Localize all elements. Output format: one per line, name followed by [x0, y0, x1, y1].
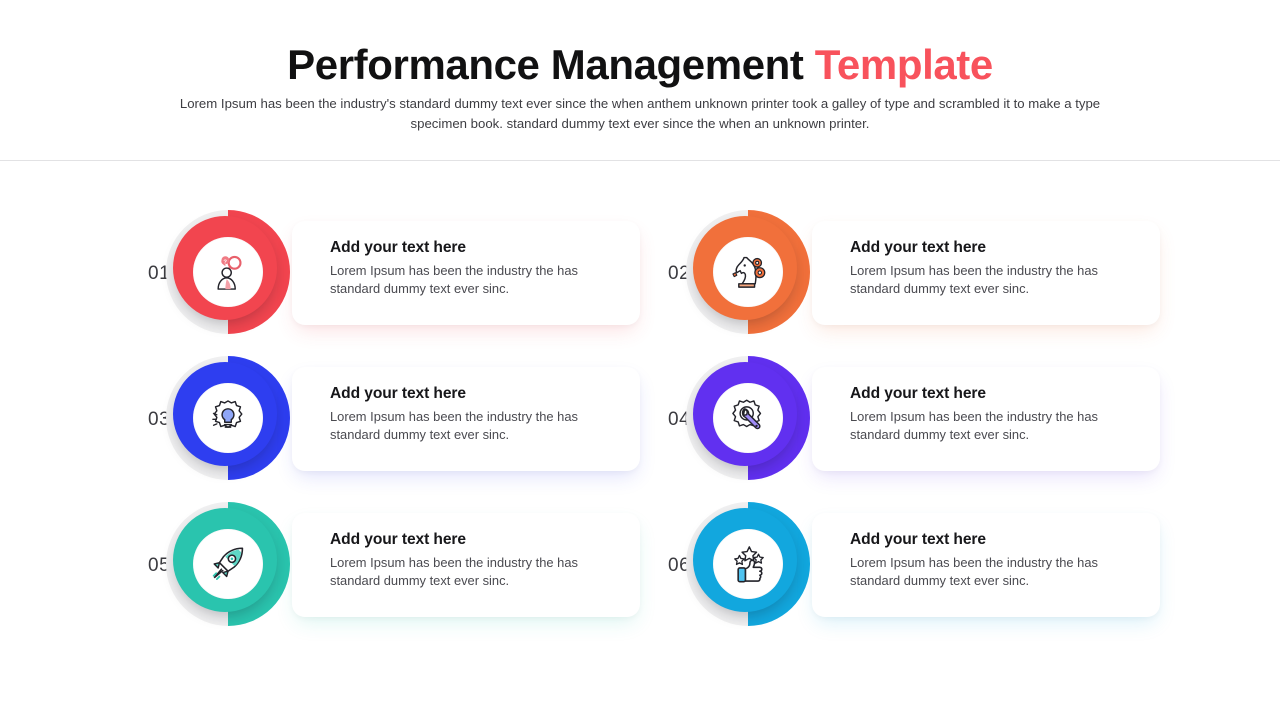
item-heading: Add your text here — [330, 385, 618, 403]
item-body: Lorem Ipsum has been the industry the ha… — [330, 554, 618, 591]
item-body: Lorem Ipsum has been the industry the ha… — [330, 408, 618, 445]
item-heading: Add your text here — [850, 531, 1138, 549]
icon-disc — [193, 529, 263, 599]
item-icon-badge — [686, 356, 810, 480]
list-item[interactable]: 03 Add your text here — [140, 356, 640, 502]
icon-disc — [193, 383, 263, 453]
item-card[interactable]: Add your text here Lorem Ipsum has been … — [292, 513, 640, 617]
item-card[interactable]: Add your text here Lorem Ipsum has been … — [292, 221, 640, 325]
item-body: Lorem Ipsum has been the industry the ha… — [850, 408, 1138, 445]
person-magnifier-question-icon: ? — [207, 251, 249, 293]
list-item[interactable]: 04 Add your text here Lorem Ipsum has be… — [660, 356, 1160, 502]
icon-disc — [713, 529, 783, 599]
item-heading: Add your text here — [850, 385, 1138, 403]
item-card[interactable]: Add your text here Lorem Ipsum has been … — [812, 367, 1160, 471]
page-subtitle: Lorem Ipsum has been the industry's stan… — [150, 94, 1130, 135]
item-heading: Add your text here — [850, 239, 1138, 257]
items-grid: 01 ? Add your text here — [0, 196, 1280, 666]
icon-disc: ? — [193, 237, 263, 307]
list-item[interactable]: 01 ? Add your text here — [140, 210, 640, 356]
slide-header: Performance Management Template Lorem Ip… — [0, 0, 1280, 160]
icon-disc — [713, 237, 783, 307]
svg-text:?: ? — [223, 259, 227, 265]
item-body: Lorem Ipsum has been the industry the ha… — [850, 554, 1138, 591]
rocket-launch-icon — [207, 543, 249, 585]
item-icon-badge: ? — [166, 210, 290, 334]
chess-knight-gears-icon — [727, 251, 769, 293]
item-icon-badge — [166, 356, 290, 480]
slide-canvas: Performance Management Template Lorem Ip… — [0, 0, 1280, 720]
item-card[interactable]: Add your text here Lorem Ipsum has been … — [292, 367, 640, 471]
thumbs-up-stars-rating-icon — [727, 543, 769, 585]
icon-disc — [713, 383, 783, 453]
page-title: Performance Management Template — [0, 42, 1280, 88]
lightbulb-gear-idea-icon — [207, 397, 249, 439]
list-item[interactable]: 06 Add your text here Lorem Ipsum has be — [660, 502, 1160, 648]
item-body: Lorem Ipsum has been the industry the ha… — [330, 262, 618, 299]
item-heading: Add your text here — [330, 531, 618, 549]
item-icon-badge — [686, 502, 810, 626]
list-item[interactable]: 02 Add yo — [660, 210, 1160, 356]
page-title-main: Performance Management — [287, 41, 815, 88]
item-icon-badge — [686, 210, 810, 334]
item-icon-badge — [166, 502, 290, 626]
item-card[interactable]: Add your text here Lorem Ipsum has been … — [812, 221, 1160, 325]
item-card[interactable]: Add your text here Lorem Ipsum has been … — [812, 513, 1160, 617]
gear-wrench-settings-icon — [727, 397, 769, 439]
item-body: Lorem Ipsum has been the industry the ha… — [850, 262, 1138, 299]
item-heading: Add your text here — [330, 239, 618, 257]
list-item[interactable]: 05 — [140, 502, 640, 648]
header-divider — [0, 160, 1280, 161]
page-title-accent: Template — [815, 41, 993, 88]
